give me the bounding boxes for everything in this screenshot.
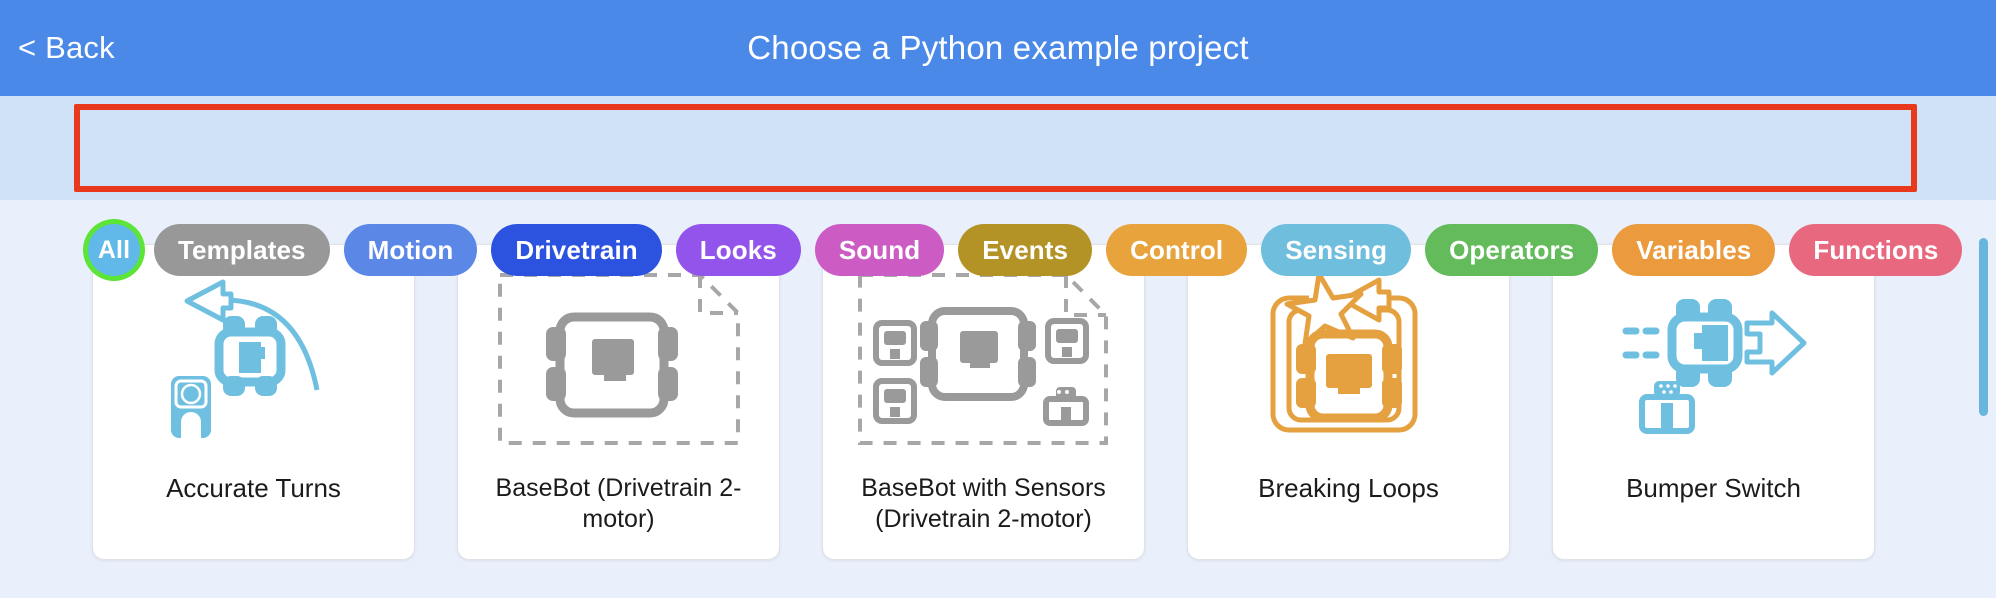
category-filter-band: AllTemplatesMotionDrivetrainLooksSoundEv… (0, 96, 1996, 200)
robot-bumper-arrow-icon (1614, 269, 1814, 449)
project-card-art (823, 245, 1144, 473)
project-card-art (458, 245, 779, 473)
category-chip-sound[interactable]: Sound (815, 224, 944, 276)
category-chip-label: All (98, 236, 130, 265)
project-card-title: BaseBot (Drivetrain 2-motor) (458, 473, 779, 548)
project-card-title: Accurate Turns (93, 473, 414, 519)
category-chip-label: Functions (1813, 235, 1938, 266)
category-chip-label: Sound (839, 235, 920, 266)
category-chip-label: Drivetrain (515, 235, 637, 266)
project-card-art (93, 245, 414, 473)
category-chip-list: AllTemplatesMotionDrivetrainLooksSoundEv… (88, 224, 1962, 276)
category-chip-operators[interactable]: Operators (1425, 224, 1598, 276)
project-card[interactable]: Breaking Loops (1187, 244, 1510, 560)
category-chip-label: Templates (178, 235, 306, 266)
category-chip-functions[interactable]: Functions (1789, 224, 1962, 276)
page-title: Choose a Python example project (0, 29, 1996, 67)
loop-star-robot-icon (1249, 264, 1449, 454)
project-card[interactable]: Bumper Switch (1552, 244, 1875, 560)
category-chip-label: Sensing (1285, 235, 1387, 266)
category-chip-looks[interactable]: Looks (676, 224, 801, 276)
basebot-blueprint-icon (494, 269, 744, 449)
project-card-title: Bumper Switch (1553, 473, 1874, 519)
example-project-chooser: < Back Choose a Python example project A… (0, 0, 1996, 598)
category-chip-drivetrain[interactable]: Drivetrain (491, 224, 661, 276)
category-chip-motion[interactable]: Motion (344, 224, 478, 276)
basebot-sensors-blueprint-icon (854, 269, 1114, 449)
project-card-title: BaseBot with Sensors (Drivetrain 2-motor… (823, 473, 1144, 548)
category-chip-label: Looks (700, 235, 777, 266)
category-chip-label: Events (982, 235, 1068, 266)
category-chip-control[interactable]: Control (1106, 224, 1247, 276)
project-card-art (1188, 245, 1509, 473)
project-card[interactable]: BaseBot with Sensors (Drivetrain 2-motor… (822, 244, 1145, 560)
category-chip-label: Variables (1636, 235, 1751, 266)
vertical-scrollbar[interactable] (1979, 238, 1988, 570)
project-card-art (1553, 245, 1874, 473)
project-card[interactable]: Accurate Turns (92, 244, 415, 560)
category-chip-events[interactable]: Events (958, 224, 1092, 276)
app-header: < Back Choose a Python example project (0, 0, 1996, 96)
robot-turn-gyro-icon (159, 264, 349, 454)
category-chip-label: Operators (1449, 235, 1574, 266)
category-chip-label: Motion (368, 235, 454, 266)
category-chip-label: Control (1130, 235, 1223, 266)
category-chip-all[interactable]: All (88, 224, 140, 276)
project-card[interactable]: BaseBot (Drivetrain 2-motor) (457, 244, 780, 560)
category-chip-sensing[interactable]: Sensing (1261, 224, 1411, 276)
scrollbar-thumb[interactable] (1979, 238, 1988, 416)
category-chip-variables[interactable]: Variables (1612, 224, 1775, 276)
project-card-title: Breaking Loops (1188, 473, 1509, 519)
back-button[interactable]: < Back (18, 30, 115, 66)
project-card-grid: Accurate Turns BaseBot (Drivetrain 2-mot… (0, 244, 1996, 560)
category-chip-templates[interactable]: Templates (154, 224, 330, 276)
